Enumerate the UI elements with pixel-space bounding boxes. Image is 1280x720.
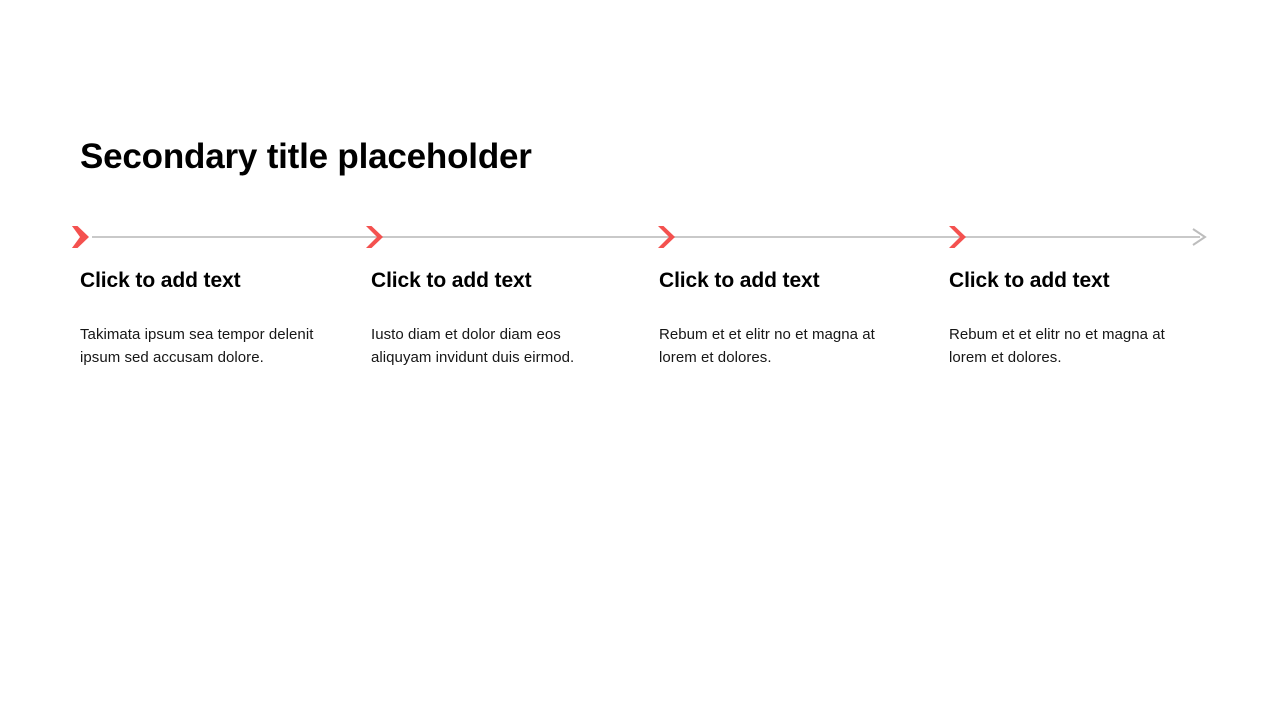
column-heading[interactable]: Click to add text <box>371 268 623 294</box>
timeline <box>0 214 1280 260</box>
timeline-axis-line <box>0 214 1280 260</box>
column-heading[interactable]: Click to add text <box>80 268 332 294</box>
column-heading[interactable]: Click to add text <box>659 268 911 294</box>
column-body-text[interactable]: Takimata ipsum sea tempor delenit ipsum … <box>80 294 332 369</box>
column-2: Click to add text Iusto diam et dolor di… <box>371 268 623 369</box>
chevron-right-icon <box>364 225 386 249</box>
timeline-marker-2[interactable] <box>364 214 390 260</box>
chevron-right-icon <box>947 225 969 249</box>
column-4: Click to add text Rebum et et elitr no e… <box>949 268 1201 369</box>
column-1: Click to add text Takimata ipsum sea tem… <box>80 268 332 369</box>
columns-container: Click to add text Takimata ipsum sea tem… <box>80 268 1210 408</box>
column-body-text[interactable]: Rebum et et elitr no et magna at lorem e… <box>659 294 911 369</box>
column-body-text[interactable]: Iusto diam et dolor diam eos aliquyam in… <box>371 294 623 369</box>
timeline-marker-1[interactable] <box>70 214 96 260</box>
column-3: Click to add text Rebum et et elitr no e… <box>659 268 911 369</box>
chevron-right-icon <box>656 225 678 249</box>
timeline-marker-4[interactable] <box>947 214 973 260</box>
slide-canvas: Secondary title placeholder <box>0 0 1280 720</box>
timeline-marker-3[interactable] <box>656 214 682 260</box>
page-title[interactable]: Secondary title placeholder <box>80 136 1200 178</box>
column-heading[interactable]: Click to add text <box>949 268 1201 294</box>
chevron-right-icon <box>70 225 92 249</box>
column-body-text[interactable]: Rebum et et elitr no et magna at lorem e… <box>949 294 1201 369</box>
